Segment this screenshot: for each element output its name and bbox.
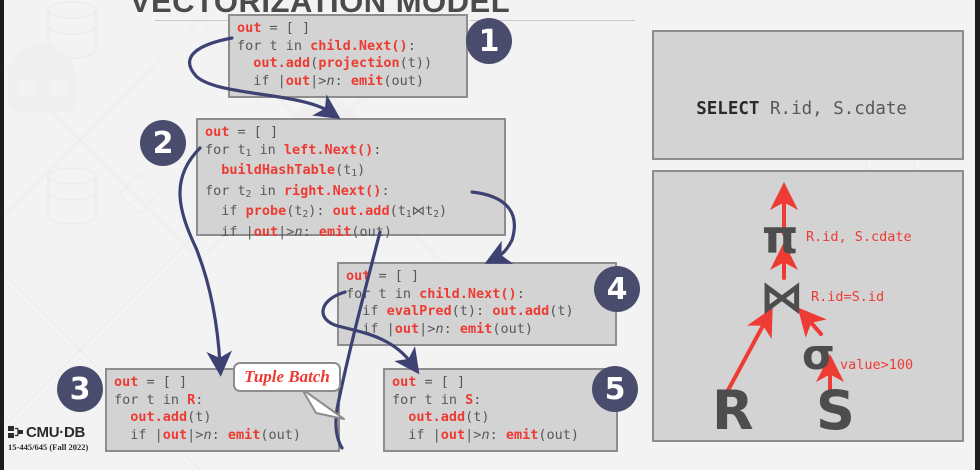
left-page-edge (0, 0, 4, 470)
code-block-5: out = [ ] for t in S: out.add(t) if |out… (383, 368, 618, 452)
sql-query-panel: SELECT R.id, S.cdate FROM R JOIN S ON R.… (652, 30, 964, 160)
right-page-edge (975, 0, 980, 470)
cmu-db-logo: CMU·DB 15-445/645 (Fall 2022) (8, 424, 88, 452)
code-block-4: out = [ ] for t in child.Next(): if eval… (337, 262, 617, 346)
plan-node-join-label: R.id=S.id (811, 289, 884, 305)
plan-node-table-s: S (816, 384, 855, 438)
plan-node-join-icon: ⋈ (760, 276, 804, 320)
sql-clause-select: R.id, S.cdate (770, 95, 948, 123)
code-block-1: out = [ ] for t in child.Next(): out.add… (228, 14, 468, 98)
query-plan-tree (654, 172, 962, 440)
query-plan-panel: π R.id, S.cdate ⋈ R.id=S.id σ value>100 … (652, 170, 964, 442)
code-block-2: out = [ ] for t1 in left.Next(): buildHa… (196, 118, 506, 236)
plan-node-select-label: value>100 (840, 357, 913, 373)
step-badge-2: 2 (140, 120, 186, 166)
step-badge-5: 5 (592, 366, 638, 412)
callout-tail (300, 388, 348, 422)
logo-name: CMU·DB (26, 424, 85, 441)
tuple-batch-callout: Tuple Batch (233, 362, 341, 392)
step-badge-1: 1 (466, 18, 512, 64)
slide-canvas: VECTORIZATION MODEL out = [ ] for t in c… (0, 0, 980, 470)
tuple-batch-label: Tuple Batch (244, 367, 330, 387)
database-logo-icon (8, 425, 23, 440)
plan-node-projection-icon: π (762, 214, 798, 260)
plan-node-select-icon: σ (802, 334, 835, 376)
step-badge-3: 3 (57, 366, 103, 412)
plan-node-projection-label: R.id, S.cdate (806, 229, 912, 245)
sql-keyword-select: SELECT (696, 99, 759, 119)
plan-node-table-r: R (712, 384, 754, 438)
logo-subtitle: 15-445/645 (Fall 2022) (8, 442, 88, 452)
step-badge-4: 4 (594, 266, 640, 312)
